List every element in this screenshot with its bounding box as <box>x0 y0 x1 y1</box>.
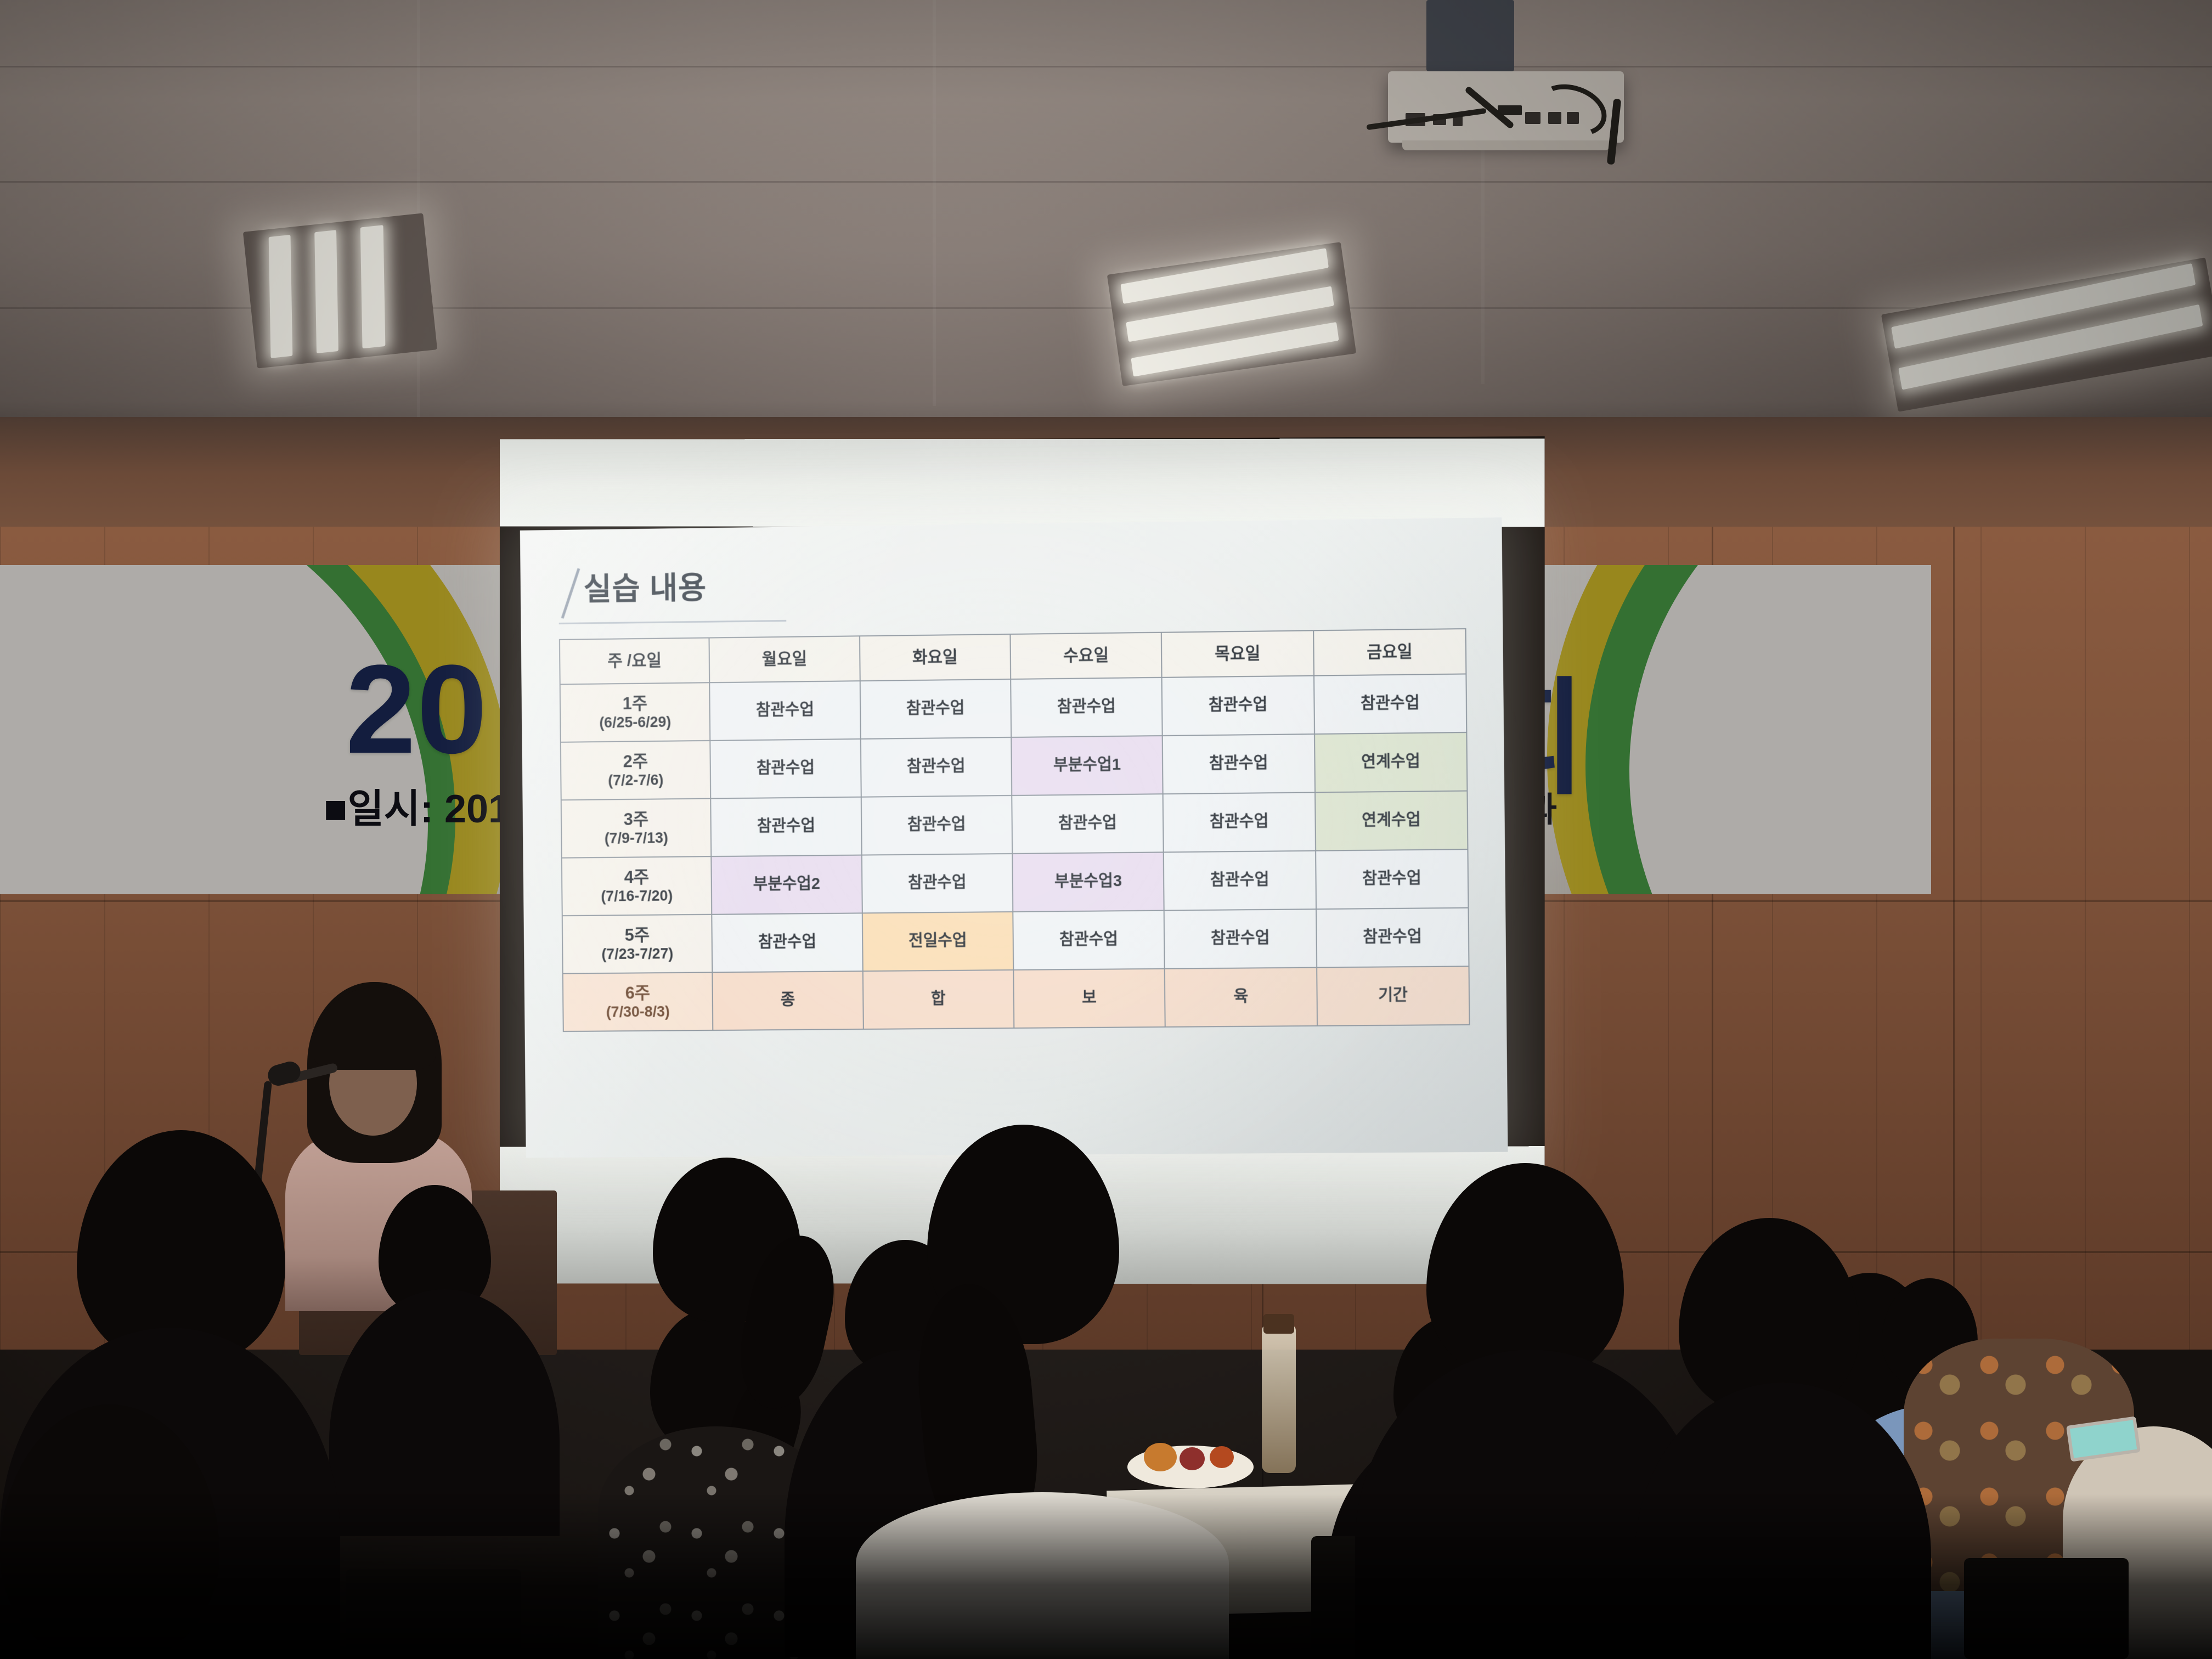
schedule-cell: 전일수업 <box>862 912 1013 971</box>
title-underline <box>559 620 787 624</box>
screen-top-area <box>500 439 1545 527</box>
table-row: 3주(7/9-7/13)참관수업참관수업참관수업참관수업연계수업 <box>561 791 1468 858</box>
schedule-cell: 참관수업 <box>1164 909 1317 969</box>
schedule-cell: 육 <box>1165 968 1317 1027</box>
col-header-mon: 월요일 <box>709 636 860 682</box>
week-number: 3주 <box>564 808 708 830</box>
schedule-cell: 참관수업 <box>1316 908 1469 968</box>
col-header-wed: 수요일 <box>1010 633 1162 679</box>
table-row: 6주(7/30-8/3)종합보육기간 <box>563 966 1470 1031</box>
schedule-cell: 보 <box>1013 969 1165 1028</box>
slide-content: 실습 내용 주 /요일 월요일 화요일 수요일 목요일 금요일 1주(6/25-… <box>520 517 1508 1158</box>
schedule-cell: 부분수업3 <box>1012 852 1164 912</box>
schedule-cell: 참관수업 <box>710 681 861 741</box>
schedule-cell: 참관수업 <box>861 854 1013 913</box>
table-row: 4주(7/16-7/20)부분수업2참관수업부분수업3참관수업참관수업 <box>562 849 1469 916</box>
water-bottle <box>1262 1325 1296 1473</box>
week-range: (7/2-7/6) <box>563 771 708 791</box>
schedule-table: 주 /요일 월요일 화요일 수요일 목요일 금요일 1주(6/25-6/29)참… <box>559 628 1470 1032</box>
fruit <box>1180 1447 1205 1470</box>
slide-header: 실습 내용 <box>558 550 1466 627</box>
table-body: 1주(6/25-6/29)참관수업참관수업참관수업참관수업참관수업2주(7/2-… <box>560 674 1470 1031</box>
fruit <box>1210 1446 1234 1468</box>
projection-screen: 실습 내용 주 /요일 월요일 화요일 수요일 목요일 금요일 1주(6/25-… <box>520 517 1508 1158</box>
schedule-cell: 기간 <box>1317 966 1470 1026</box>
table-row: 5주(7/23-7/27)참관수업전일수업참관수업참관수업참관수업 <box>562 908 1469 974</box>
week-range: (6/25-6/29) <box>563 713 707 733</box>
schedule-cell: 참관수업 <box>1012 794 1164 854</box>
week-cell: 6주(7/30-8/3) <box>563 972 713 1031</box>
banner-title-left: 20 <box>346 636 488 782</box>
schedule-cell: 참관수업 <box>1163 792 1316 852</box>
week-range: (7/9-7/13) <box>564 829 708 848</box>
bottle-cap <box>1263 1314 1294 1334</box>
schedule-cell: 연계수업 <box>1315 791 1468 851</box>
schedule-cell: 합 <box>862 970 1014 1029</box>
wall-line <box>1953 527 1955 1350</box>
week-cell: 3주(7/9-7/13) <box>561 799 712 858</box>
week-cell: 4주(7/16-7/20) <box>562 856 712 916</box>
fruit <box>1144 1443 1177 1471</box>
schedule-cell: 참관수업 <box>861 795 1012 855</box>
week-number: 6주 <box>566 982 710 1004</box>
week-cell: 1주(6/25-6/29) <box>560 682 710 742</box>
week-cell: 5주(7/23-7/27) <box>562 915 713 974</box>
slash-decoration <box>561 568 580 619</box>
schedule-cell: 참관수업 <box>1164 851 1316 911</box>
schedule-cell: 참관수업 <box>711 797 862 856</box>
schedule-cell: 부분수업2 <box>712 855 862 915</box>
schedule-cell: 부분수업1 <box>1011 736 1163 795</box>
week-cell: 2주(7/2-7/6) <box>561 741 711 800</box>
schedule-cell: 참관수업 <box>1013 911 1165 970</box>
schedule-cell: 참관수업 <box>1316 849 1469 909</box>
schedule-cell: 연계수업 <box>1314 732 1468 792</box>
banner-graphic <box>1629 565 1931 894</box>
lecture-hall-photo: 20 회 ■일시: 2018 아교육과 실습 내용 주 /요일 월요일 화요일 … <box>0 0 2212 1659</box>
week-number: 2주 <box>563 751 708 772</box>
schedule-cell: 종 <box>713 971 864 1030</box>
schedule-cell: 참관수업 <box>860 737 1012 797</box>
schedule-cell: 참관수업 <box>712 913 863 972</box>
schedule-cell: 참관수업 <box>1314 674 1467 734</box>
col-header-fri: 금요일 <box>1313 629 1466 676</box>
week-number: 1주 <box>563 692 707 715</box>
schedule-cell: 참관수업 <box>1162 676 1314 736</box>
week-range: (7/23-7/27) <box>565 945 709 964</box>
col-header-thu: 목요일 <box>1161 630 1314 677</box>
schedule-cell: 참관수업 <box>710 739 861 799</box>
week-number: 4주 <box>565 866 709 888</box>
table-row: 1주(6/25-6/29)참관수업참관수업참관수업참관수업참관수업 <box>560 674 1467 742</box>
table-row: 2주(7/2-7/6)참관수업참관수업부분수업1참관수업연계수업 <box>561 732 1468 800</box>
schedule-cell: 참관수업 <box>860 679 1011 739</box>
schedule-cell: 참관수업 <box>1011 678 1163 737</box>
col-header-week: 주 /요일 <box>560 638 710 685</box>
col-header-tue: 화요일 <box>860 634 1011 681</box>
slide-title: 실습 내용 <box>583 563 707 608</box>
foreground-shadow <box>0 1494 2212 1659</box>
week-range: (7/30-8/3) <box>566 1003 710 1022</box>
schedule-cell: 참관수업 <box>1163 734 1315 794</box>
week-number: 5주 <box>565 924 709 946</box>
week-range: (7/16-7/20) <box>565 887 709 906</box>
